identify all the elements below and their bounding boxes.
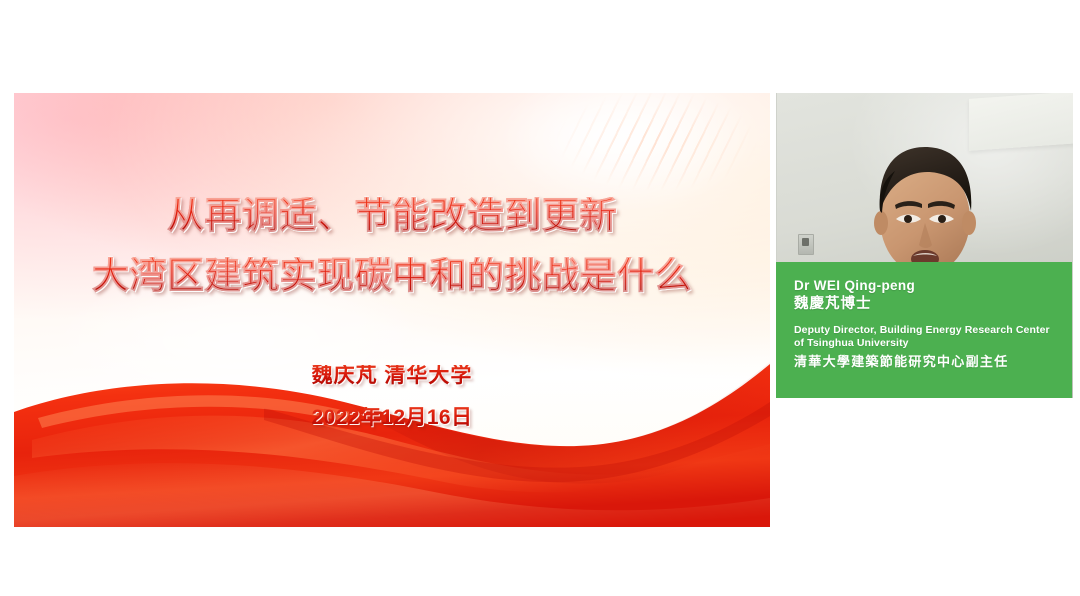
slide-title-line-2: 大湾区建筑实现碳中和的挑战是什么 (92, 257, 692, 294)
slide-light-streaks (528, 93, 770, 206)
red-silk-ribbon (14, 336, 770, 527)
speaker-role-english: Deputy Director, Building Energy Researc… (794, 324, 1056, 350)
screen-root: 从再调适、节能改造到更新 大湾区建筑实现碳中和的挑战是什么 魏庆芃 清华大学 2… (0, 0, 1080, 596)
shared-slide: 从再调适、节能改造到更新 大湾区建筑实现碳中和的挑战是什么 魏庆芃 清华大学 2… (14, 93, 770, 527)
slide-bottom-wash (14, 379, 770, 527)
slide-text-block: 从再调适、节能改造到更新 大湾区建筑实现碳中和的挑战是什么 魏庆芃 清华大学 2… (14, 93, 770, 527)
slide-glow-highlight (452, 93, 770, 241)
speaker-role-chinese: 清華大學建築節能研究中心副主任 (794, 354, 1056, 371)
slide-date: 2022年12月16日 (312, 407, 473, 428)
speaker-name-english: Dr WEI Qing-peng (794, 278, 1056, 294)
speaker-name-overlay: Dr WEI Qing-peng 魏慶芃博士 Deputy Director, … (776, 262, 1072, 398)
slide-title-line-1: 从再调适、节能改造到更新 (167, 197, 617, 234)
speaker-name-chinese: 魏慶芃博士 (794, 295, 1056, 313)
slide-presenter: 魏庆芃 清华大学 (312, 365, 473, 386)
slide-glow-secondary (14, 241, 513, 441)
